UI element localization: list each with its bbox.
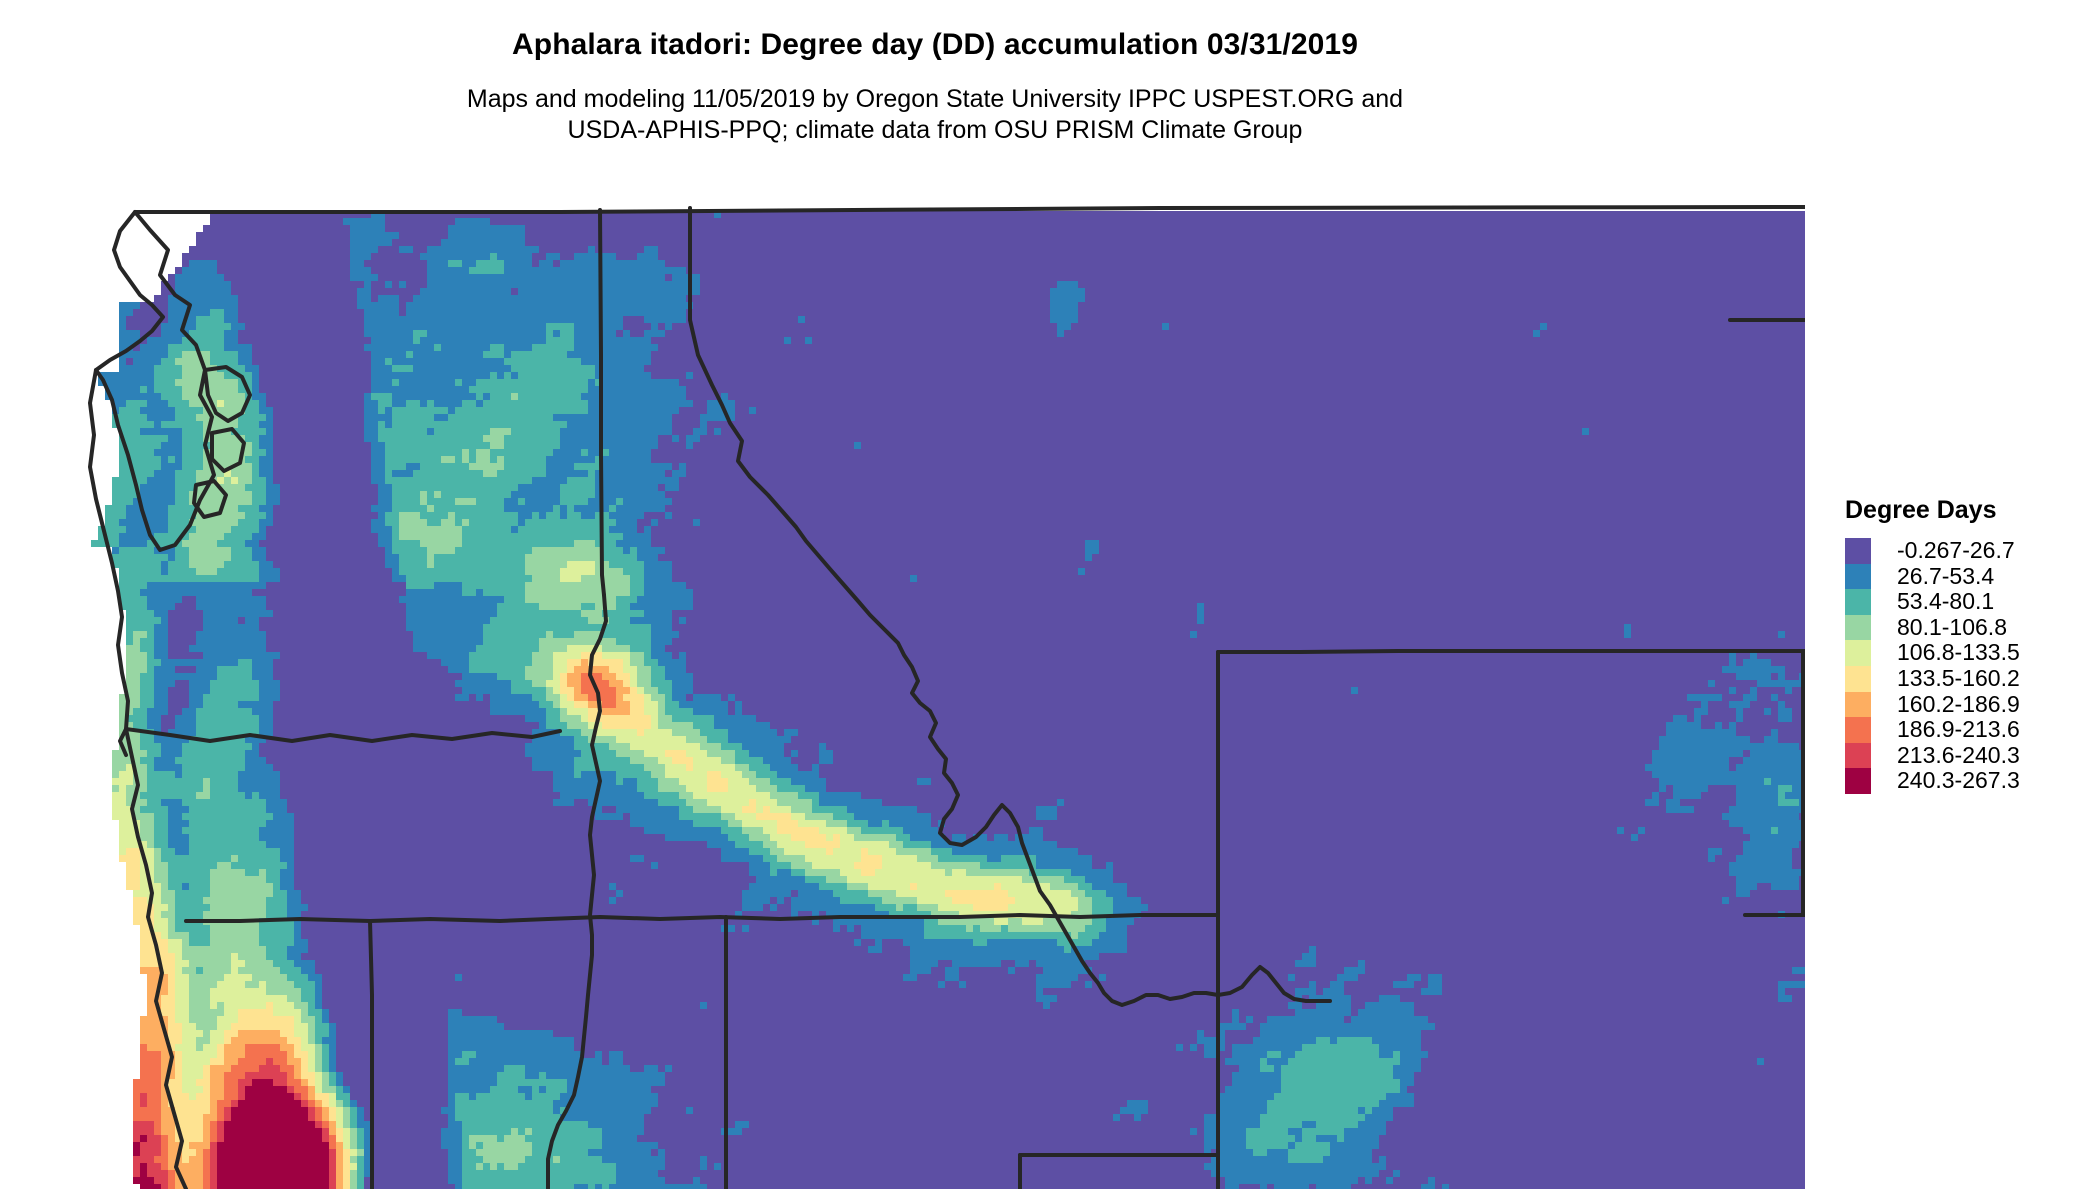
legend: Degree Days -0.267-26.726.7-53.453.4-80.… xyxy=(1845,496,2099,794)
legend-entry-label: 106.8-133.5 xyxy=(1897,640,2020,666)
legend-entry-label: 26.7-53.4 xyxy=(1897,564,1994,590)
legend-color-swatch xyxy=(1845,743,1871,769)
legend-color-swatch xyxy=(1845,717,1871,743)
subtitle-line-2: USDA-APHIS-PPQ; climate data from OSU PR… xyxy=(0,115,1870,146)
nevada-california-inner xyxy=(370,921,372,1189)
legend-color-swatch xyxy=(1845,589,1871,615)
subtitle-line-1: Maps and modeling 11/05/2019 by Oregon S… xyxy=(0,84,1870,115)
legend-color-swatch xyxy=(1845,615,1871,641)
legend-color-swatch xyxy=(1845,692,1871,718)
legend-entry: 80.1-106.8 xyxy=(1845,615,2099,641)
legend-color-swatch xyxy=(1845,538,1871,564)
legend-entry-label: 186.9-213.6 xyxy=(1897,717,2020,743)
legend-entry: 53.4-80.1 xyxy=(1845,589,2099,615)
legend-entry-list: -0.267-26.726.7-53.453.4-80.180.1-106.81… xyxy=(1845,538,2099,794)
legend-title: Degree Days xyxy=(1845,496,2099,524)
raster-layer xyxy=(91,211,1805,1189)
legend-entry: 213.6-240.3 xyxy=(1845,743,2099,769)
page-subtitle: Maps and modeling 11/05/2019 by Oregon S… xyxy=(0,84,1870,146)
legend-color-swatch xyxy=(1845,768,1871,794)
legend-entry: 160.2-186.9 xyxy=(1845,692,2099,718)
legend-entry-label: 160.2-186.9 xyxy=(1897,692,2020,718)
legend-entry-label: 213.6-240.3 xyxy=(1897,743,2020,769)
legend-color-swatch xyxy=(1845,666,1871,692)
legend-color-swatch xyxy=(1845,640,1871,666)
oregon-south-border-west xyxy=(186,919,548,921)
legend-entry: 26.7-53.4 xyxy=(1845,564,2099,590)
legend-entry: 186.9-213.6 xyxy=(1845,717,2099,743)
legend-entry-label: 53.4-80.1 xyxy=(1897,589,1994,615)
wyoming-north-border xyxy=(1218,651,1805,652)
legend-entry: 240.3-267.3 xyxy=(1845,768,2099,794)
legend-entry: 106.8-133.5 xyxy=(1845,640,2099,666)
map-canvas[interactable] xyxy=(0,155,1805,1189)
legend-entry-label: 80.1-106.8 xyxy=(1897,615,2007,641)
legend-entry-label: -0.267-26.7 xyxy=(1897,538,2015,564)
map-page: Aphalara itadori: Degree day (DD) accumu… xyxy=(0,0,2099,1189)
legend-entry: 133.5-160.2 xyxy=(1845,666,2099,692)
degree-day-map[interactable] xyxy=(0,155,1805,1189)
legend-color-swatch xyxy=(1845,564,1871,590)
legend-entry-label: 240.3-267.3 xyxy=(1897,768,2020,794)
legend-entry-label: 133.5-160.2 xyxy=(1897,666,2020,692)
legend-entry: -0.267-26.7 xyxy=(1845,538,2099,564)
page-title: Aphalara itadori: Degree day (DD) accumu… xyxy=(0,28,1870,62)
